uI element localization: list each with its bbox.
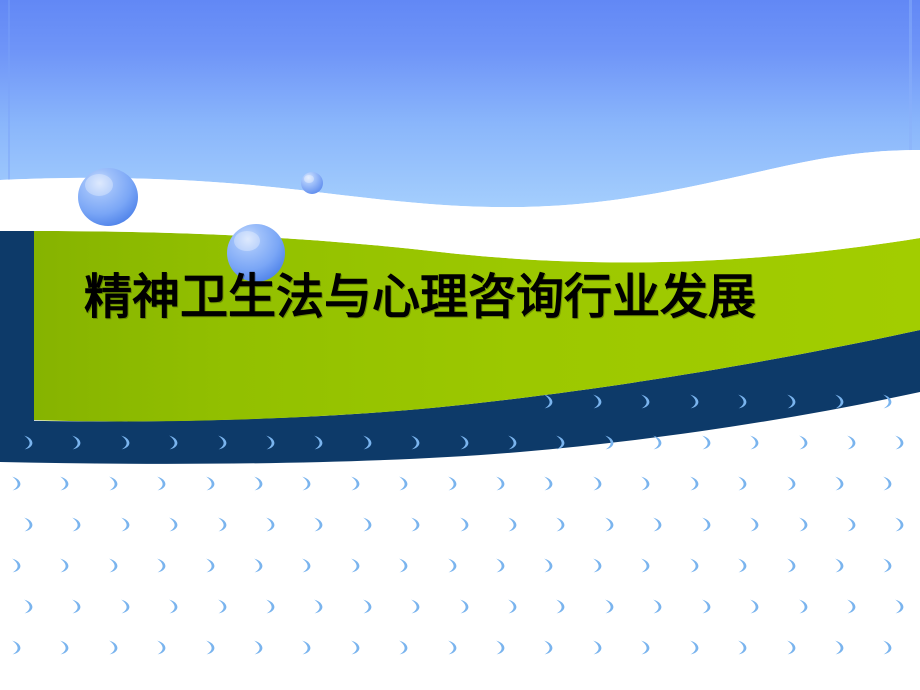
slide-background-art — [0, 0, 920, 690]
slide-canvas: 精神卫生法与心理咨询行业发展 — [0, 0, 920, 690]
page-title: 精神卫生法与心理咨询行业发展 — [84, 273, 756, 323]
title-placeholder: 精神卫生法与心理咨询行业发展 — [0, 262, 920, 334]
